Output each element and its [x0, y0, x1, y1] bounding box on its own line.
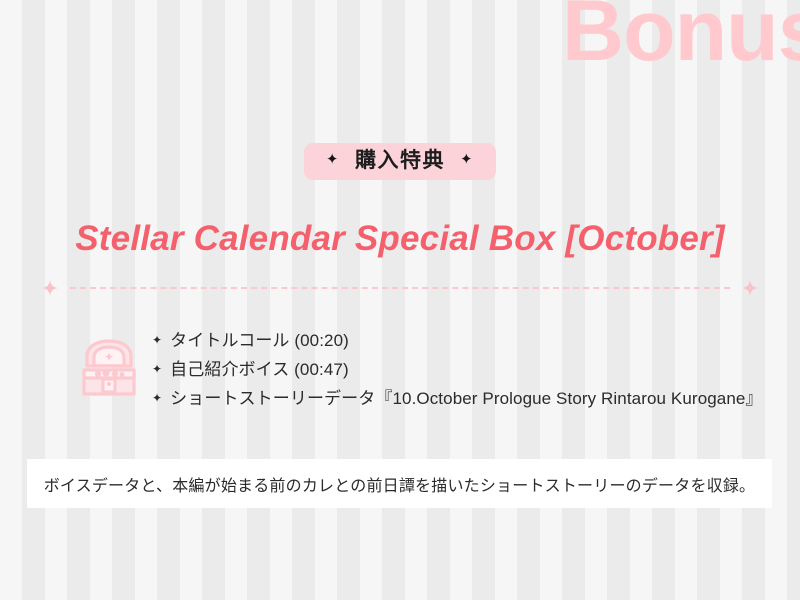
sparkle-diamond-left-icon [42, 280, 58, 296]
sparkle-bullet-icon: ✦ [152, 326, 162, 354]
page-title: Stellar Calendar Special Box [October] [0, 219, 800, 259]
sparkle-star-left-icon: ✦ [326, 152, 340, 167]
sparkle-bullet-icon: ✦ [152, 355, 162, 383]
sparkle-star-right-icon: ✦ [460, 152, 474, 167]
sparkle-bullet-icon: ✦ [152, 384, 162, 412]
bonus-item-list: ✦ タイトルコール (00:20) ✦ 自己紹介ボイス (00:47) ✦ ショ… [152, 326, 763, 414]
list-item-label: タイトルコール (00:20) [170, 327, 349, 355]
list-item: ✦ タイトルコール (00:20) [152, 327, 763, 356]
description-text: ボイスデータと、本編が始まる前のカレとの前日譚を描いたショートストーリーのデータ… [44, 472, 756, 496]
sparkle-diamond-right-icon [742, 280, 758, 296]
list-item-label: ショートストーリーデータ『10.October Prologue Story R… [170, 385, 762, 413]
treasure-chest-icon [78, 334, 140, 400]
badge-row: ✦ 購入特典 ✦ [0, 143, 800, 180]
badge-label: 購入特典 [355, 150, 445, 171]
list-item-label: 自己紹介ボイス (00:47) [170, 356, 349, 384]
list-item: ✦ 自己紹介ボイス (00:47) [152, 356, 763, 385]
bonus-page-stage: Bonus ✦ 購入特典 ✦ Stellar Calendar Special … [0, 0, 800, 600]
contents-section: ✦ タイトルコール (00:20) ✦ 自己紹介ボイス (00:47) ✦ ショ… [0, 326, 800, 414]
divider-dashed-line [70, 287, 730, 289]
divider [42, 281, 758, 295]
bonus-watermark-text: Bonus [562, 0, 800, 81]
description-bar: ボイスデータと、本編が始まる前のカレとの前日譚を描いたショートストーリーのデータ… [27, 459, 772, 508]
purchase-bonus-badge: ✦ 購入特典 ✦ [304, 143, 496, 180]
list-item: ✦ ショートストーリーデータ『10.October Prologue Story… [152, 385, 763, 414]
